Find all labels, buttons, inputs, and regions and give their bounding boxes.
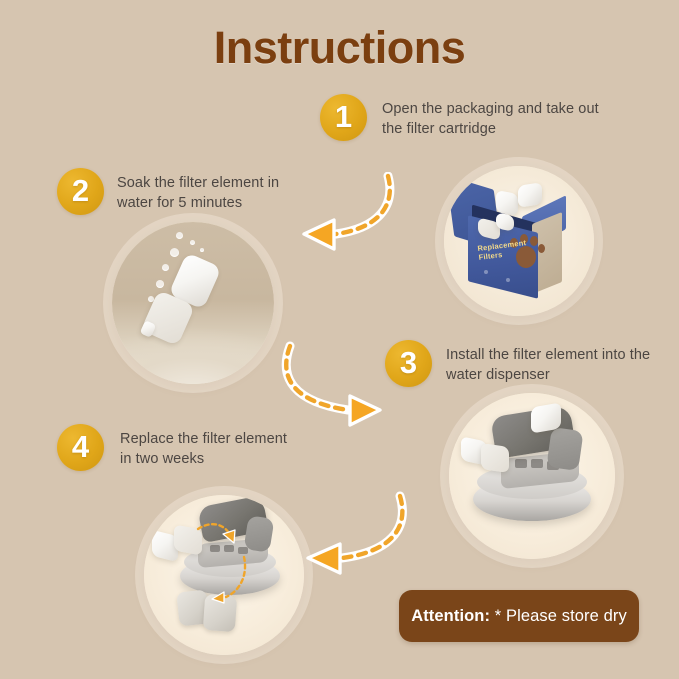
sparkle-icon: [506, 278, 510, 282]
arrow-step2-to-step3: [272, 340, 394, 436]
step-number-badge-2: 2: [57, 168, 104, 215]
bubble: [200, 248, 204, 252]
bubble: [176, 232, 183, 239]
tray-slot: [515, 459, 527, 468]
bubble: [156, 280, 164, 288]
attention-message: * Please store dry: [495, 607, 627, 625]
attention-label: Attention:: [411, 607, 490, 625]
step-caption-3: Install the filter element into the wate…: [446, 345, 651, 385]
step-number-4: 4: [72, 431, 89, 462]
paw-toe-icon: [538, 244, 545, 253]
step-number-2: 2: [72, 175, 89, 206]
photo-soak-filter: [112, 222, 274, 384]
filter-cartridge: [518, 182, 542, 207]
step-caption-2: Soak the filter element in water for 5 m…: [117, 173, 302, 213]
step-caption-1: Open the packaging and take out the filt…: [382, 99, 607, 139]
attention-text: Attention: * Please store dry: [411, 607, 627, 626]
inline-arrow-remove-icon: [204, 553, 250, 609]
page-title: Instructions: [0, 22, 679, 74]
filter-cartridge: [496, 190, 518, 216]
photo-install-filter: [449, 393, 615, 559]
arrow-step3-to-step4: [290, 490, 418, 586]
bubble: [162, 264, 169, 271]
sparkle-icon: [484, 270, 488, 274]
bubble: [190, 240, 195, 245]
inline-arrow-insert-icon: [194, 519, 240, 553]
step-number-badge-1: 1: [320, 94, 367, 141]
step-number-badge-4: 4: [57, 424, 104, 471]
photo-replace-filter: [144, 495, 304, 655]
step-number-1: 1: [335, 101, 352, 132]
dispenser-lid-hinge: [546, 427, 583, 471]
filter-cartridge: [481, 443, 509, 473]
tray-slot: [531, 459, 543, 468]
attention-banner: Attention: * Please store dry: [399, 590, 639, 642]
photo-open-packaging: Replacement Filters: [444, 166, 594, 316]
step-number-3: 3: [400, 347, 417, 378]
bubble: [170, 248, 179, 257]
instructions-poster: Instructions 1 Open the packaging and ta…: [0, 0, 679, 679]
paw-toe-icon: [530, 236, 538, 246]
step-caption-4: Replace the filter element in two weeks: [120, 429, 290, 469]
arrow-step1-to-step2: [292, 172, 412, 264]
